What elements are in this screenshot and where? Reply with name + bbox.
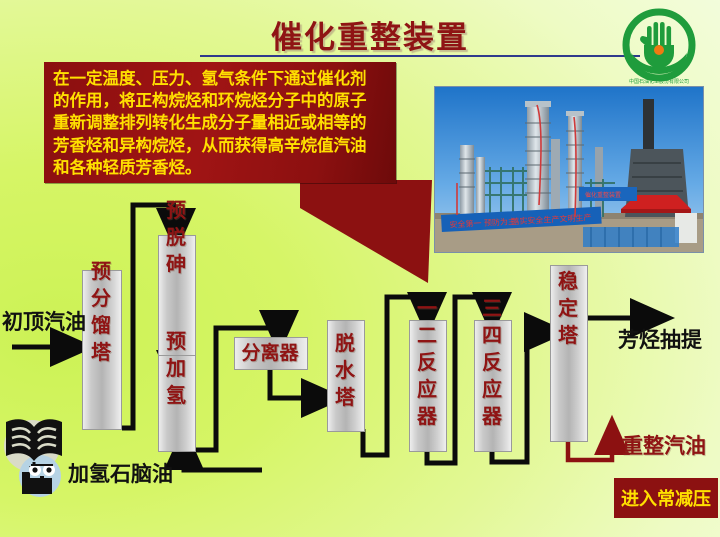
open-book-reader-clipart-icon [2,406,88,498]
vessel-pre-hydrogenation[interactable] [158,355,196,452]
status-badge-atmospheric-vacuum[interactable]: 进入常减压 [614,478,718,518]
vessel-reactor-3-4[interactable] [474,320,512,452]
status-badge-label: 进入常减压 [621,485,711,511]
vessel-separator[interactable] [234,337,308,370]
process-flow-diagram [0,0,720,537]
vessel-pre-arsenic-removal[interactable] [158,235,196,357]
stream-label-feed-naphtha-in: 初顶汽油 [2,306,86,336]
slide-canvas: 催化重整装置 中国石油化工股份有限公司 [0,0,720,537]
stream-label-aromatics-extraction: 芳烃抽提 [618,324,702,354]
vessel-pre-fractionation-tower[interactable] [82,270,122,430]
vessel-reactor-1-2[interactable] [409,320,447,452]
vessel-stabilizer-tower[interactable] [550,265,588,442]
vessel-dehydration-tower[interactable] [327,320,365,432]
stream-label-reformate-gasoline: 重整汽油 [622,430,706,460]
